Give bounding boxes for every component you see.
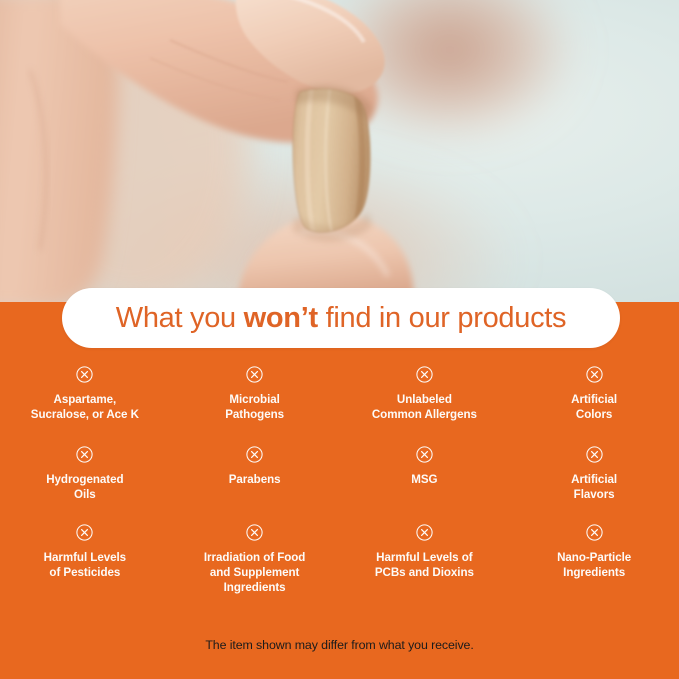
grid-item-label: MSG [411,472,437,487]
circle-x-icon [416,366,433,383]
grid-item: Parabens [170,446,340,524]
circle-x-icon [246,446,263,463]
title-prefix: What you [116,302,244,334]
circle-x-icon [416,446,433,463]
circle-x-icon [586,366,603,383]
grid-item-label: HydrogenatedOils [46,472,123,502]
grid-item-label: Harmful Levelsof Pesticides [44,550,126,580]
grid-item: Nano-ParticleIngredients [509,524,679,596]
page-title: What you won’t find in our products [116,302,566,335]
grid-item: ArtificialFlavors [509,446,679,524]
disclaimer-text: The item shown may differ from what you … [0,638,679,652]
grid-item: Harmful Levels ofPCBs and Dioxins [340,524,510,596]
grid-item-label: Nano-ParticleIngredients [557,550,631,580]
grid-item-label: Harmful Levels ofPCBs and Dioxins [375,550,474,580]
grid-item-label: MicrobialPathogens [225,392,284,422]
grid-item: Irradiation of Foodand SupplementIngredi… [170,524,340,596]
grid-item: ArtificialColors [509,366,679,446]
grid-item: MicrobialPathogens [170,366,340,446]
circle-x-icon [586,524,603,541]
product-info-panel: What you won’t find in our products Aspa… [0,0,679,679]
grid-item-label: ArtificialColors [571,392,617,422]
title-emphasis: won’t [244,302,318,334]
circle-x-icon [76,446,93,463]
grid-item-label: Parabens [229,472,281,487]
grid-item-label: ArtificialFlavors [571,472,617,502]
grid-item: Harmful Levelsof Pesticides [0,524,170,596]
circle-x-icon [76,366,93,383]
circle-x-icon [246,366,263,383]
grid-item: HydrogenatedOils [0,446,170,524]
grid-item-label: Aspartame,Sucralose, or Ace K [31,392,139,422]
circle-x-icon [586,446,603,463]
grid-item: MSG [340,446,510,524]
headline-banner: What you won’t find in our products [62,288,620,348]
circle-x-icon [76,524,93,541]
hero-photo [0,0,679,304]
grid-item-label: Irradiation of Foodand SupplementIngredi… [204,550,305,596]
excluded-ingredients-grid: Aspartame,Sucralose, or Ace K MicrobialP… [0,366,679,596]
title-suffix: find in our products [318,302,566,334]
grid-item-label: UnlabeledCommon Allergens [372,392,477,422]
circle-x-icon [416,524,433,541]
grid-item: Aspartame,Sucralose, or Ace K [0,366,170,446]
circle-x-icon [246,524,263,541]
hand-holding-tablet-illustration [0,0,679,304]
grid-item: UnlabeledCommon Allergens [340,366,510,446]
